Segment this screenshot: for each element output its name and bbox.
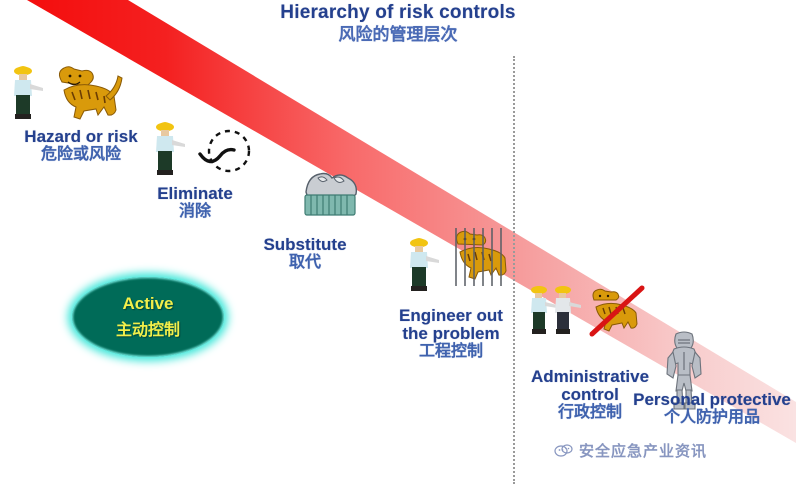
worker-figure-hazard (6, 62, 46, 129)
active-badge-en: Active (122, 294, 173, 314)
step-label-hazard-zh: 危险或风险 (6, 146, 156, 164)
active-badge-zh: 主动控制 (116, 316, 180, 340)
caged-rock-icon (300, 168, 362, 225)
step-label-hazard-en: Hazard or risk (6, 128, 156, 146)
active-passive-divider (513, 56, 515, 484)
title-chinese: 风险的管理层次 (0, 24, 796, 45)
step-label-substitute-en: Substitute (238, 236, 372, 254)
crossed-out-tiger-icon (586, 284, 648, 347)
chart-title: Hierarchy of risk controls 风险的管理层次 (0, 2, 796, 45)
active-control-badge: Active 主动控制 (72, 277, 224, 357)
title-english: Hierarchy of risk controls (0, 2, 796, 24)
step-label-engineer-zh: 工程控制 (381, 343, 521, 361)
step-label-ppe: Personal protective 个人防护用品 (629, 391, 795, 427)
risk-control-hierarchy-infographic: Hierarchy of risk controls 风险的管理层次 (0, 0, 796, 484)
chat-bubble-icon (554, 443, 574, 459)
step-label-substitute: Substitute 取代 (238, 236, 372, 272)
step-label-eliminate-zh: 消除 (133, 203, 257, 221)
watermark: 安全应急产业资讯 (554, 440, 707, 461)
step-label-administrative-en-line1: Administrative (515, 368, 665, 386)
step-label-ppe-zh: 个人防护用品 (629, 409, 795, 427)
step-label-engineer-en-line1: Engineer out (381, 307, 521, 325)
step-label-substitute-zh: 取代 (238, 254, 372, 272)
worker-figure-engineer (402, 234, 442, 301)
step-label-engineer: Engineer out the problem 工程控制 (381, 307, 521, 361)
step-label-eliminate: Eliminate 消除 (133, 185, 257, 221)
caged-tiger-icon (448, 226, 516, 297)
step-label-ppe-en: Personal protective (629, 391, 795, 409)
tiger-icon (46, 56, 124, 133)
step-label-eliminate-en: Eliminate (133, 185, 257, 203)
step-label-engineer-en-line2: the problem (381, 325, 521, 343)
watermark-text: 安全应急产业资讯 (579, 440, 707, 461)
dashed-circle-slash-icon (196, 126, 254, 191)
step-label-hazard: Hazard or risk 危险或风险 (6, 128, 156, 164)
worker-figure-admin-2 (548, 282, 584, 343)
